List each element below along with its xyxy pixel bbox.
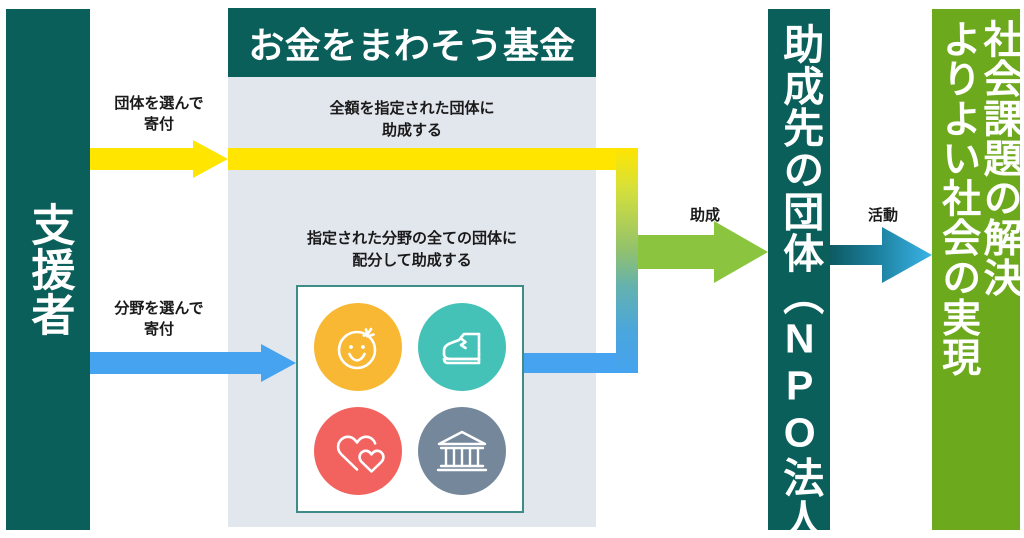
fund-caption-distributed: 指定された分野の全ての団体に 配分して助成する [228, 228, 596, 272]
fund-caption-full-amount-line1: 全額を指定された団体に [228, 98, 596, 120]
label-donate-by-organization: 団体を選んで 寄付 [88, 93, 230, 135]
fund-caption-full-amount: 全額を指定された団体に 助成する [228, 98, 596, 142]
label-donate-by-field: 分野を選んで 寄付 [88, 298, 230, 340]
outcome-label-line1: 社会課題の解決 [979, 19, 1020, 297]
label-grant: 助成 [660, 205, 750, 226]
grantee-label: 助成先の団体（NPO法人など） [777, 23, 820, 538]
arrow-head [261, 344, 296, 382]
supporter-label: 支援者 [25, 202, 72, 337]
classical-building-icon [418, 407, 506, 495]
yellow-flow-bar [228, 148, 638, 170]
arrow-shaft [638, 235, 720, 269]
diagram-canvas: 支援者 お金をまわそう基金 全額を指定された団体に 助成する 指定された分野の全… [0, 0, 1024, 538]
arrow-head [714, 221, 768, 283]
sneaker-shoe-icon [418, 303, 506, 391]
arrow-grant [638, 235, 768, 269]
arrow-shaft [90, 148, 200, 170]
label-donate-by-field-line1: 分野を選んで [88, 298, 230, 319]
smiling-child-face-icon [314, 303, 402, 391]
label-donate-by-organization-line2: 寄付 [88, 114, 230, 135]
arrow-donate-by-field [90, 352, 296, 374]
label-donate-by-organization-line1: 団体を選んで [88, 93, 230, 114]
arrow-shaft [90, 352, 268, 374]
grantee-panel: 助成先の団体（NPO法人など） [768, 9, 830, 530]
category-icon-grid [296, 285, 524, 513]
arrow-activity-shape [830, 227, 932, 283]
fund-caption-full-amount-line2: 助成する [228, 120, 596, 142]
fund-header-title: お金をまわそう基金 [228, 8, 596, 77]
gradient-merge-riser [616, 148, 638, 373]
two-hearts-icon [314, 407, 402, 495]
fund-caption-distributed-line1: 指定された分野の全ての団体に [228, 228, 596, 250]
fund-caption-distributed-line2: 配分して助成する [228, 250, 596, 272]
arrow-head [193, 140, 228, 178]
outcome-label-line2: よりよい社会の実現 [937, 19, 978, 377]
supporter-panel: 支援者 [6, 9, 90, 530]
arrow-activity [830, 240, 932, 270]
outcome-panel: 社会課題の解決 よりよい社会の実現 [932, 9, 1020, 530]
label-donate-by-field-line2: 寄付 [88, 319, 230, 340]
label-activity: 活動 [848, 205, 918, 226]
arrow-donate-by-organization [90, 148, 228, 170]
